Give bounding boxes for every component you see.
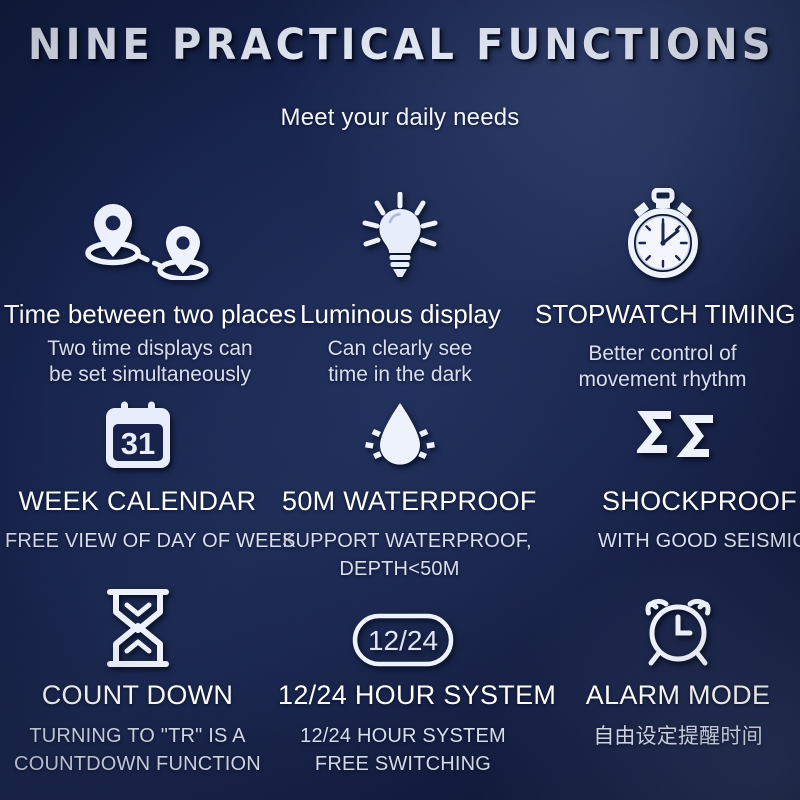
feature-card-count-down: COUNT DOWN TURNING TO "TR" IS A COUNTDOW… [5, 588, 270, 779]
feature-card-luminous-display: Luminous display Can clearly see time in… [300, 188, 500, 387]
feature-title: Luminous display [300, 299, 500, 330]
feature-description-line: Better control of [535, 341, 790, 367]
feature-title: 50M WATERPROOF [282, 486, 517, 517]
feature-title: SHOCKPROOF AND FALL PROOF [602, 486, 800, 517]
feature-description: 12/24 HOUR SYSTEM FREE SWITCHING [278, 722, 528, 779]
feature-description-line: FREE SWITCHING [278, 750, 528, 778]
feature-description-line: COUNTDOWN FUNCTION [5, 750, 270, 778]
calendar-icon: 31 [5, 396, 270, 472]
feature-description: WITH GOOD SEISMIC FUNCTION [598, 527, 800, 555]
promo-poster: NINE PRACTICAL FUNCTIONS Meet your daily… [0, 0, 800, 800]
feature-card-12-24-hour-system: 12/24 12/24 HOUR SYSTEM 12/24 HOUR SYSTE… [278, 588, 528, 779]
feature-description-line: movement rhythm [535, 367, 790, 393]
feature-description-line: 12/24 HOUR SYSTEM [278, 722, 528, 750]
page-subtitle: Meet your daily needs [0, 104, 800, 132]
lightbulb-icon [300, 188, 500, 280]
feature-description-line: 自由设定提醒时间 [558, 722, 798, 752]
feature-card-alarm-mode: ALARM MODE 自由设定提醒时间 [558, 588, 798, 752]
feature-description-line: Two time displays can [0, 336, 305, 362]
feature-description: Two time displays can be set simultaneou… [0, 336, 305, 387]
feature-description-line: DEPTH<50M [282, 555, 517, 583]
alarm-clock-icon [558, 588, 798, 668]
feature-title: Time between two places [0, 299, 305, 330]
feature-title: ALARM MODE [558, 680, 798, 711]
feature-title: COUNT DOWN [5, 680, 270, 711]
map-pins-route-icon [0, 188, 305, 280]
feature-description-line: TURNING TO "TR" IS A [5, 722, 270, 750]
feature-card-waterproof: 50M WATERPROOF SUPPORT WATERPROOF, DEPTH… [282, 396, 517, 584]
double-chevron-shock-icon [560, 396, 795, 472]
feature-description-line: Can clearly see [300, 336, 500, 362]
feature-description: 自由设定提醒时间 [558, 722, 798, 752]
feature-title: WEEK CALENDAR [5, 486, 270, 517]
feature-description-line: SUPPORT WATERPROOF, [282, 527, 517, 555]
feature-description: FREE VIEW OF DAY OF WEEK [5, 527, 270, 555]
feature-description: Can clearly see time in the dark [300, 336, 500, 387]
poster-content: NINE PRACTICAL FUNCTIONS Meet your daily… [0, 0, 800, 800]
feature-description-line: FREE VIEW OF DAY OF WEEK [5, 527, 270, 555]
feature-description: TURNING TO "TR" IS A COUNTDOWN FUNCTION [5, 722, 270, 779]
feature-card-shockproof: SHOCKPROOF AND FALL PROOF WITH GOOD SEIS… [560, 396, 795, 555]
feature-description-line: time in the dark [300, 362, 500, 388]
water-drop-icon [282, 396, 517, 472]
feature-card-stopwatch-timing: STOPWATCH TIMING Better control of movem… [535, 188, 790, 392]
feature-description-line: WITH GOOD SEISMIC FUNCTION [598, 527, 800, 555]
page-title: NINE PRACTICAL FUNCTIONS [28, 20, 772, 70]
stopwatch-icon [535, 188, 790, 280]
feature-card-time-between-two-places: Time between two places Two time display… [0, 188, 305, 387]
feature-description-line: be set simultaneously [0, 362, 305, 388]
feature-description: SUPPORT WATERPROOF, DEPTH<50M [282, 527, 517, 584]
feature-title: 12/24 HOUR SYSTEM [278, 680, 528, 711]
twelve-twentyfour-badge-icon: 12/24 [278, 588, 528, 668]
feature-description: Better control of movement rhythm [535, 341, 790, 392]
calendar-day-number: 31 [120, 426, 154, 461]
feature-title: STOPWATCH TIMING [535, 299, 790, 330]
feature-card-week-calendar: 31 WEEK CALENDAR FREE VIEW OF DAY OF WEE… [5, 396, 270, 555]
badge-label: 12/24 [368, 625, 438, 656]
hourglass-icon [5, 588, 270, 668]
